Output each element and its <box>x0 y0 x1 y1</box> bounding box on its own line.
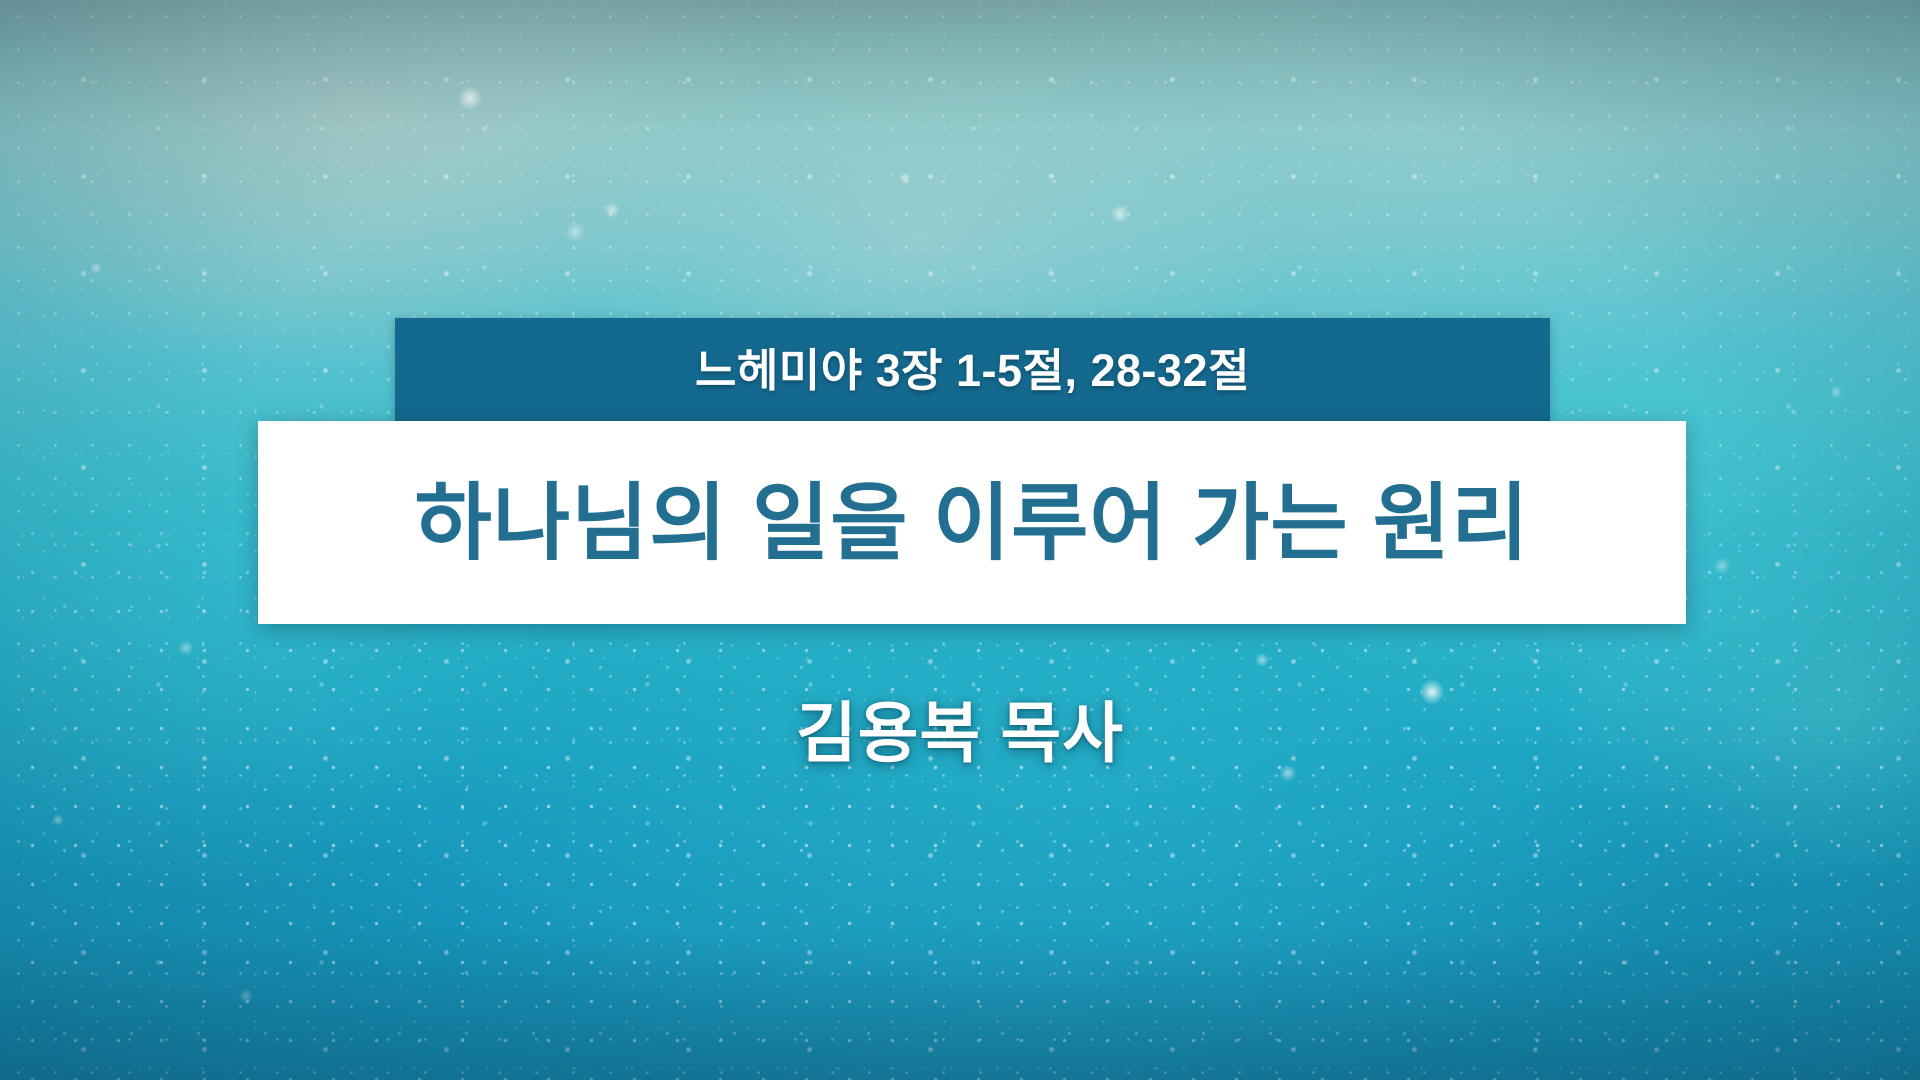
scripture-reference-text: 느헤미야 3장 1-5절, 28-32절 <box>695 348 1250 393</box>
speaker-name-text: 김용복 목사 <box>796 696 1124 770</box>
sermon-title-slide: 느헤미야 3장 1-5절, 28-32절 하나님의 일을 이루어 가는 원리 김… <box>0 0 1920 1080</box>
sermon-title-card: 하나님의 일을 이루어 가는 원리 <box>258 421 1686 624</box>
sermon-title-text: 하나님의 일을 이루어 가는 원리 <box>415 481 1530 565</box>
speaker-block: 김용복 목사 <box>0 700 1920 766</box>
scripture-reference-banner: 느헤미야 3장 1-5절, 28-32절 <box>395 318 1550 422</box>
